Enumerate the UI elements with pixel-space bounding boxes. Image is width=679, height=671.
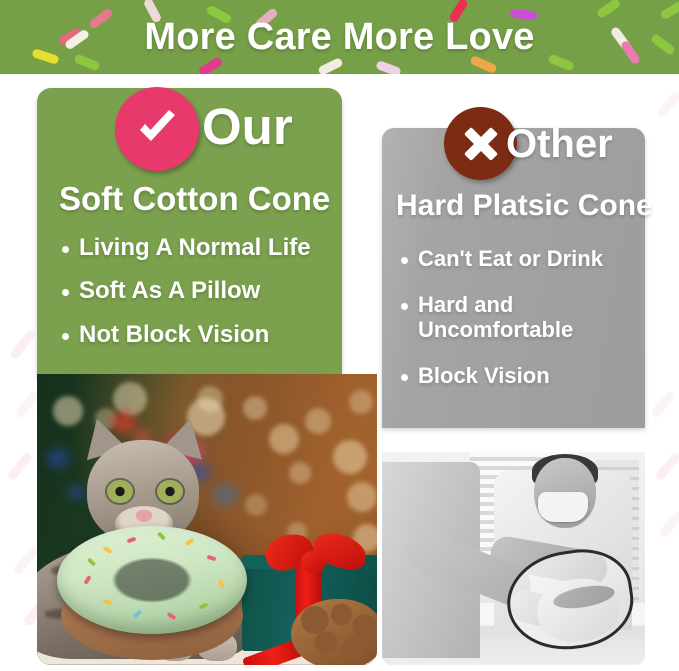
other-drawback-item: Block Vision: [401, 364, 651, 389]
donut-sprinkle: [167, 612, 177, 620]
donut-sprinkle: [87, 557, 96, 566]
bokeh-light: [245, 494, 267, 516]
cat-nose: [136, 510, 152, 522]
bokeh-light: [53, 396, 83, 426]
background-sprinkle: [13, 545, 40, 576]
tree-ornament: [67, 484, 85, 500]
other-product-photo: [382, 452, 645, 665]
bokeh-light: [113, 382, 147, 416]
other-drawback-item: Hard andUncomfortable: [401, 293, 651, 343]
our-product-photo: [37, 374, 377, 665]
donut-sprinkle: [207, 555, 217, 562]
background-sprinkle: [658, 510, 679, 539]
bokeh-light: [269, 424, 299, 454]
donut-sprinkle: [127, 537, 137, 544]
bokeh-light: [305, 408, 331, 434]
bokeh-light: [243, 396, 267, 420]
donut-sprinkle: [218, 579, 226, 589]
other-drawback-list: Can't Eat or DrinkHard andUncomfortableB…: [401, 247, 651, 409]
bullet-dot: [62, 246, 69, 253]
cat-eye-left: [107, 480, 133, 503]
donut-sprinkle: [103, 546, 113, 554]
background-sprinkle: [7, 451, 34, 482]
our-subtitle: Soft Cotton Cone: [59, 180, 330, 218]
face-mask: [538, 492, 588, 522]
pinecone: [291, 599, 377, 665]
bokeh-light: [347, 482, 377, 512]
bullet-text: Can't Eat or Drink: [401, 247, 651, 272]
donut-sprinkle: [157, 531, 166, 540]
bokeh-light: [333, 440, 367, 474]
bullet-text: Block Vision: [401, 364, 651, 389]
bullet-text: Soft As A Pillow: [62, 278, 352, 303]
bullet-dot: [62, 333, 69, 340]
background-sprinkle: [656, 90, 679, 119]
other-title: Other: [506, 122, 613, 167]
bullet-text: Hard andUncomfortable: [401, 293, 651, 343]
bullet-text: Not Block Vision: [62, 322, 352, 347]
infographic-root: More Care More Love Our Other Soft Cotto…: [0, 0, 679, 671]
our-benefit-item: Not Block Vision: [62, 322, 352, 347]
soft-donut-cone: [57, 526, 247, 634]
background-sprinkle: [9, 328, 37, 360]
bullet-dot: [401, 374, 408, 381]
bokeh-light: [289, 462, 311, 484]
our-benefit-item: Living A Normal Life: [62, 235, 352, 260]
check-icon: [115, 87, 199, 171]
donut-sprinkle: [83, 575, 91, 585]
our-title: Our: [202, 97, 293, 156]
other-subtitle: Hard Platsic Cone: [396, 189, 653, 223]
page-title: More Care More Love: [0, 0, 679, 74]
background-sprinkle: [654, 451, 679, 481]
tree-ornament: [47, 448, 69, 468]
cat-eye-right: [157, 480, 183, 503]
bullet-dot: [401, 303, 408, 310]
gift-bow-knot: [301, 551, 325, 573]
bokeh-light: [349, 390, 373, 414]
background-sprinkle: [650, 390, 676, 419]
donut-sprinkle: [133, 610, 142, 619]
donut-sprinkle: [199, 602, 209, 609]
our-benefit-item: Soft As A Pillow: [62, 278, 352, 303]
background-sprinkle: [14, 390, 40, 419]
donut-sprinkle: [103, 599, 113, 606]
our-benefit-list: Living A Normal LifeSoft As A PillowNot …: [62, 235, 352, 365]
other-drawback-item: Can't Eat or Drink: [401, 247, 651, 272]
header-banner: More Care More Love: [0, 0, 679, 74]
bullet-text: Living A Normal Life: [62, 235, 352, 260]
tree-ornament: [213, 484, 239, 506]
donut-sprinkle: [185, 538, 195, 546]
vet-clinic-scene: [382, 452, 645, 665]
